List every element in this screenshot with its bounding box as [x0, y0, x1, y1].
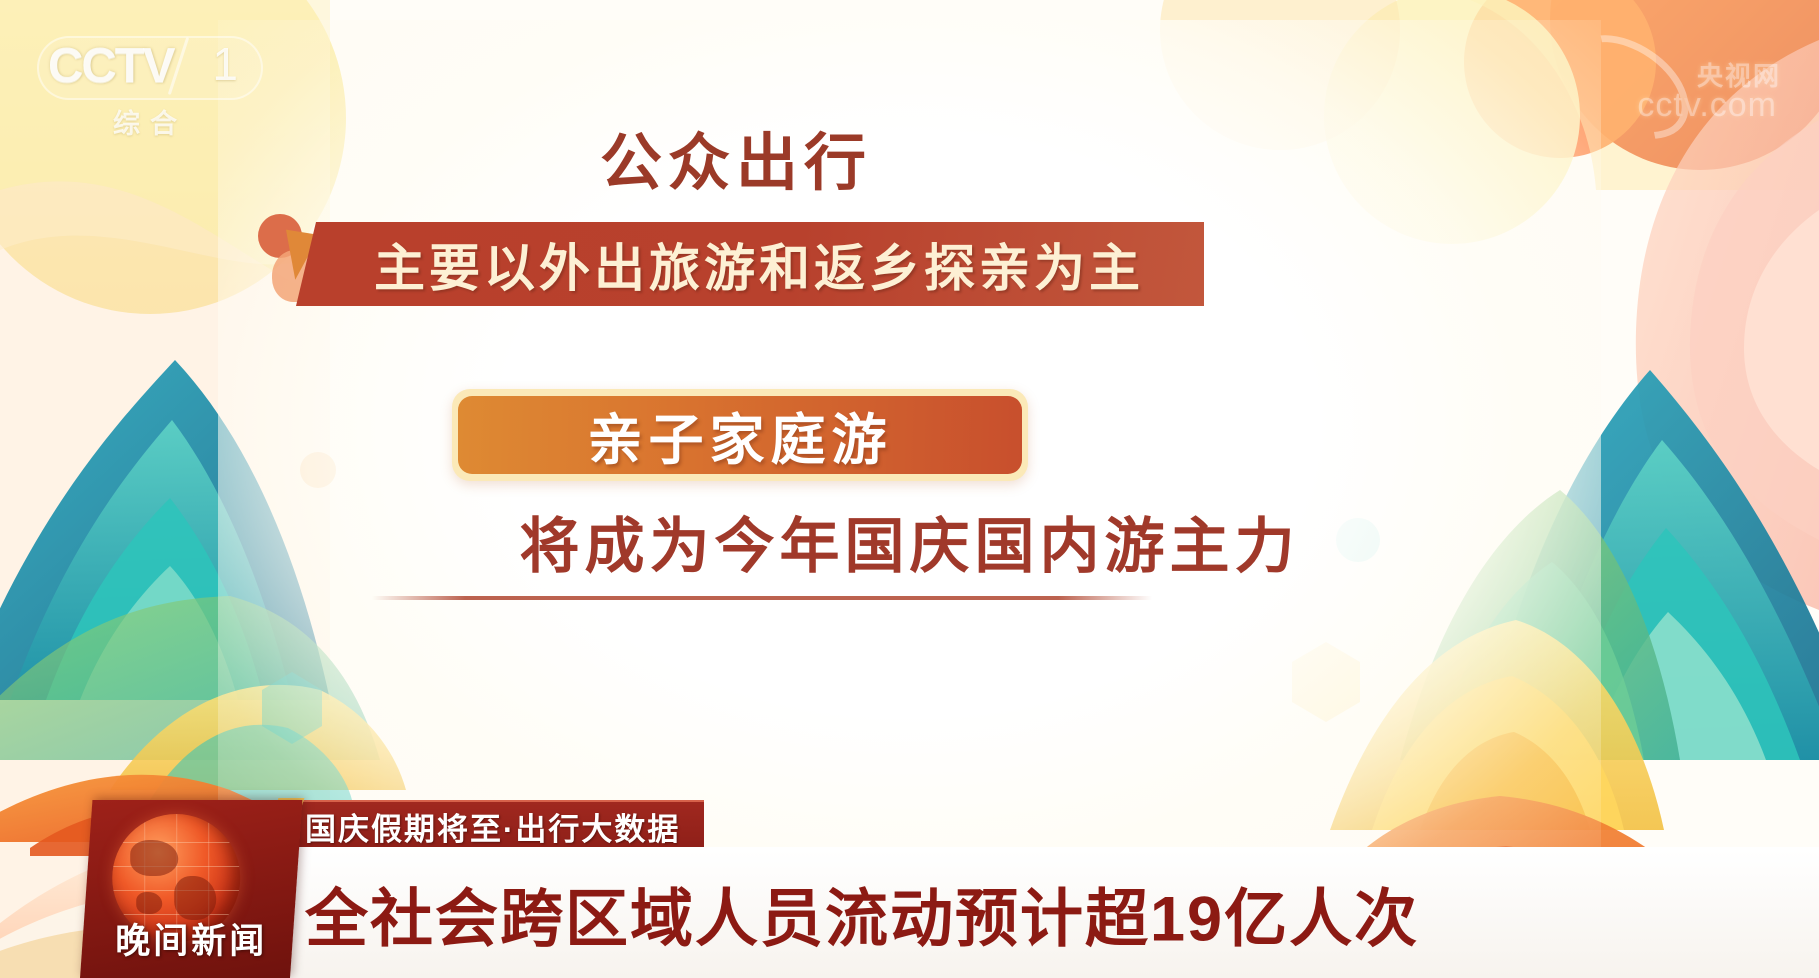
program-badge: 晚间新闻 — [80, 800, 302, 978]
subtitle-underline — [372, 596, 1152, 600]
broadcast-screenshot: CCTV 1 综合 央视网 cctv.com 公众出行 主要以外出旅游和返乡探亲… — [0, 0, 1819, 978]
pill-label: 亲子家庭游 — [452, 389, 1028, 481]
subtitle-line: 将成为今年国庆国内游主力 — [0, 498, 1819, 585]
headline-label: 全社会跨区域人员流动预计超19亿人次 — [305, 869, 1419, 960]
highlight-pill: 亲子家庭游 — [452, 389, 1028, 481]
headline-bar: 全社会跨区域人员流动预计超19亿人次 — [283, 847, 1819, 978]
red-banner: 主要以外出旅游和返乡探亲为主 — [296, 222, 1204, 306]
topic-bar-label: 国庆假期将至·出行大数据 — [305, 804, 680, 849]
news-lower-third: 国庆假期将至·出行大数据 全社会跨区域人员流动预计超19亿人次 — [0, 718, 1819, 978]
program-name-label: 晚间新闻 — [86, 913, 296, 964]
topic-bar: 国庆假期将至·出行大数据 — [283, 800, 704, 850]
page-title: 公众出行 — [600, 112, 872, 202]
red-banner-label: 主要以外出旅游和返乡探亲为主 — [296, 227, 1204, 301]
